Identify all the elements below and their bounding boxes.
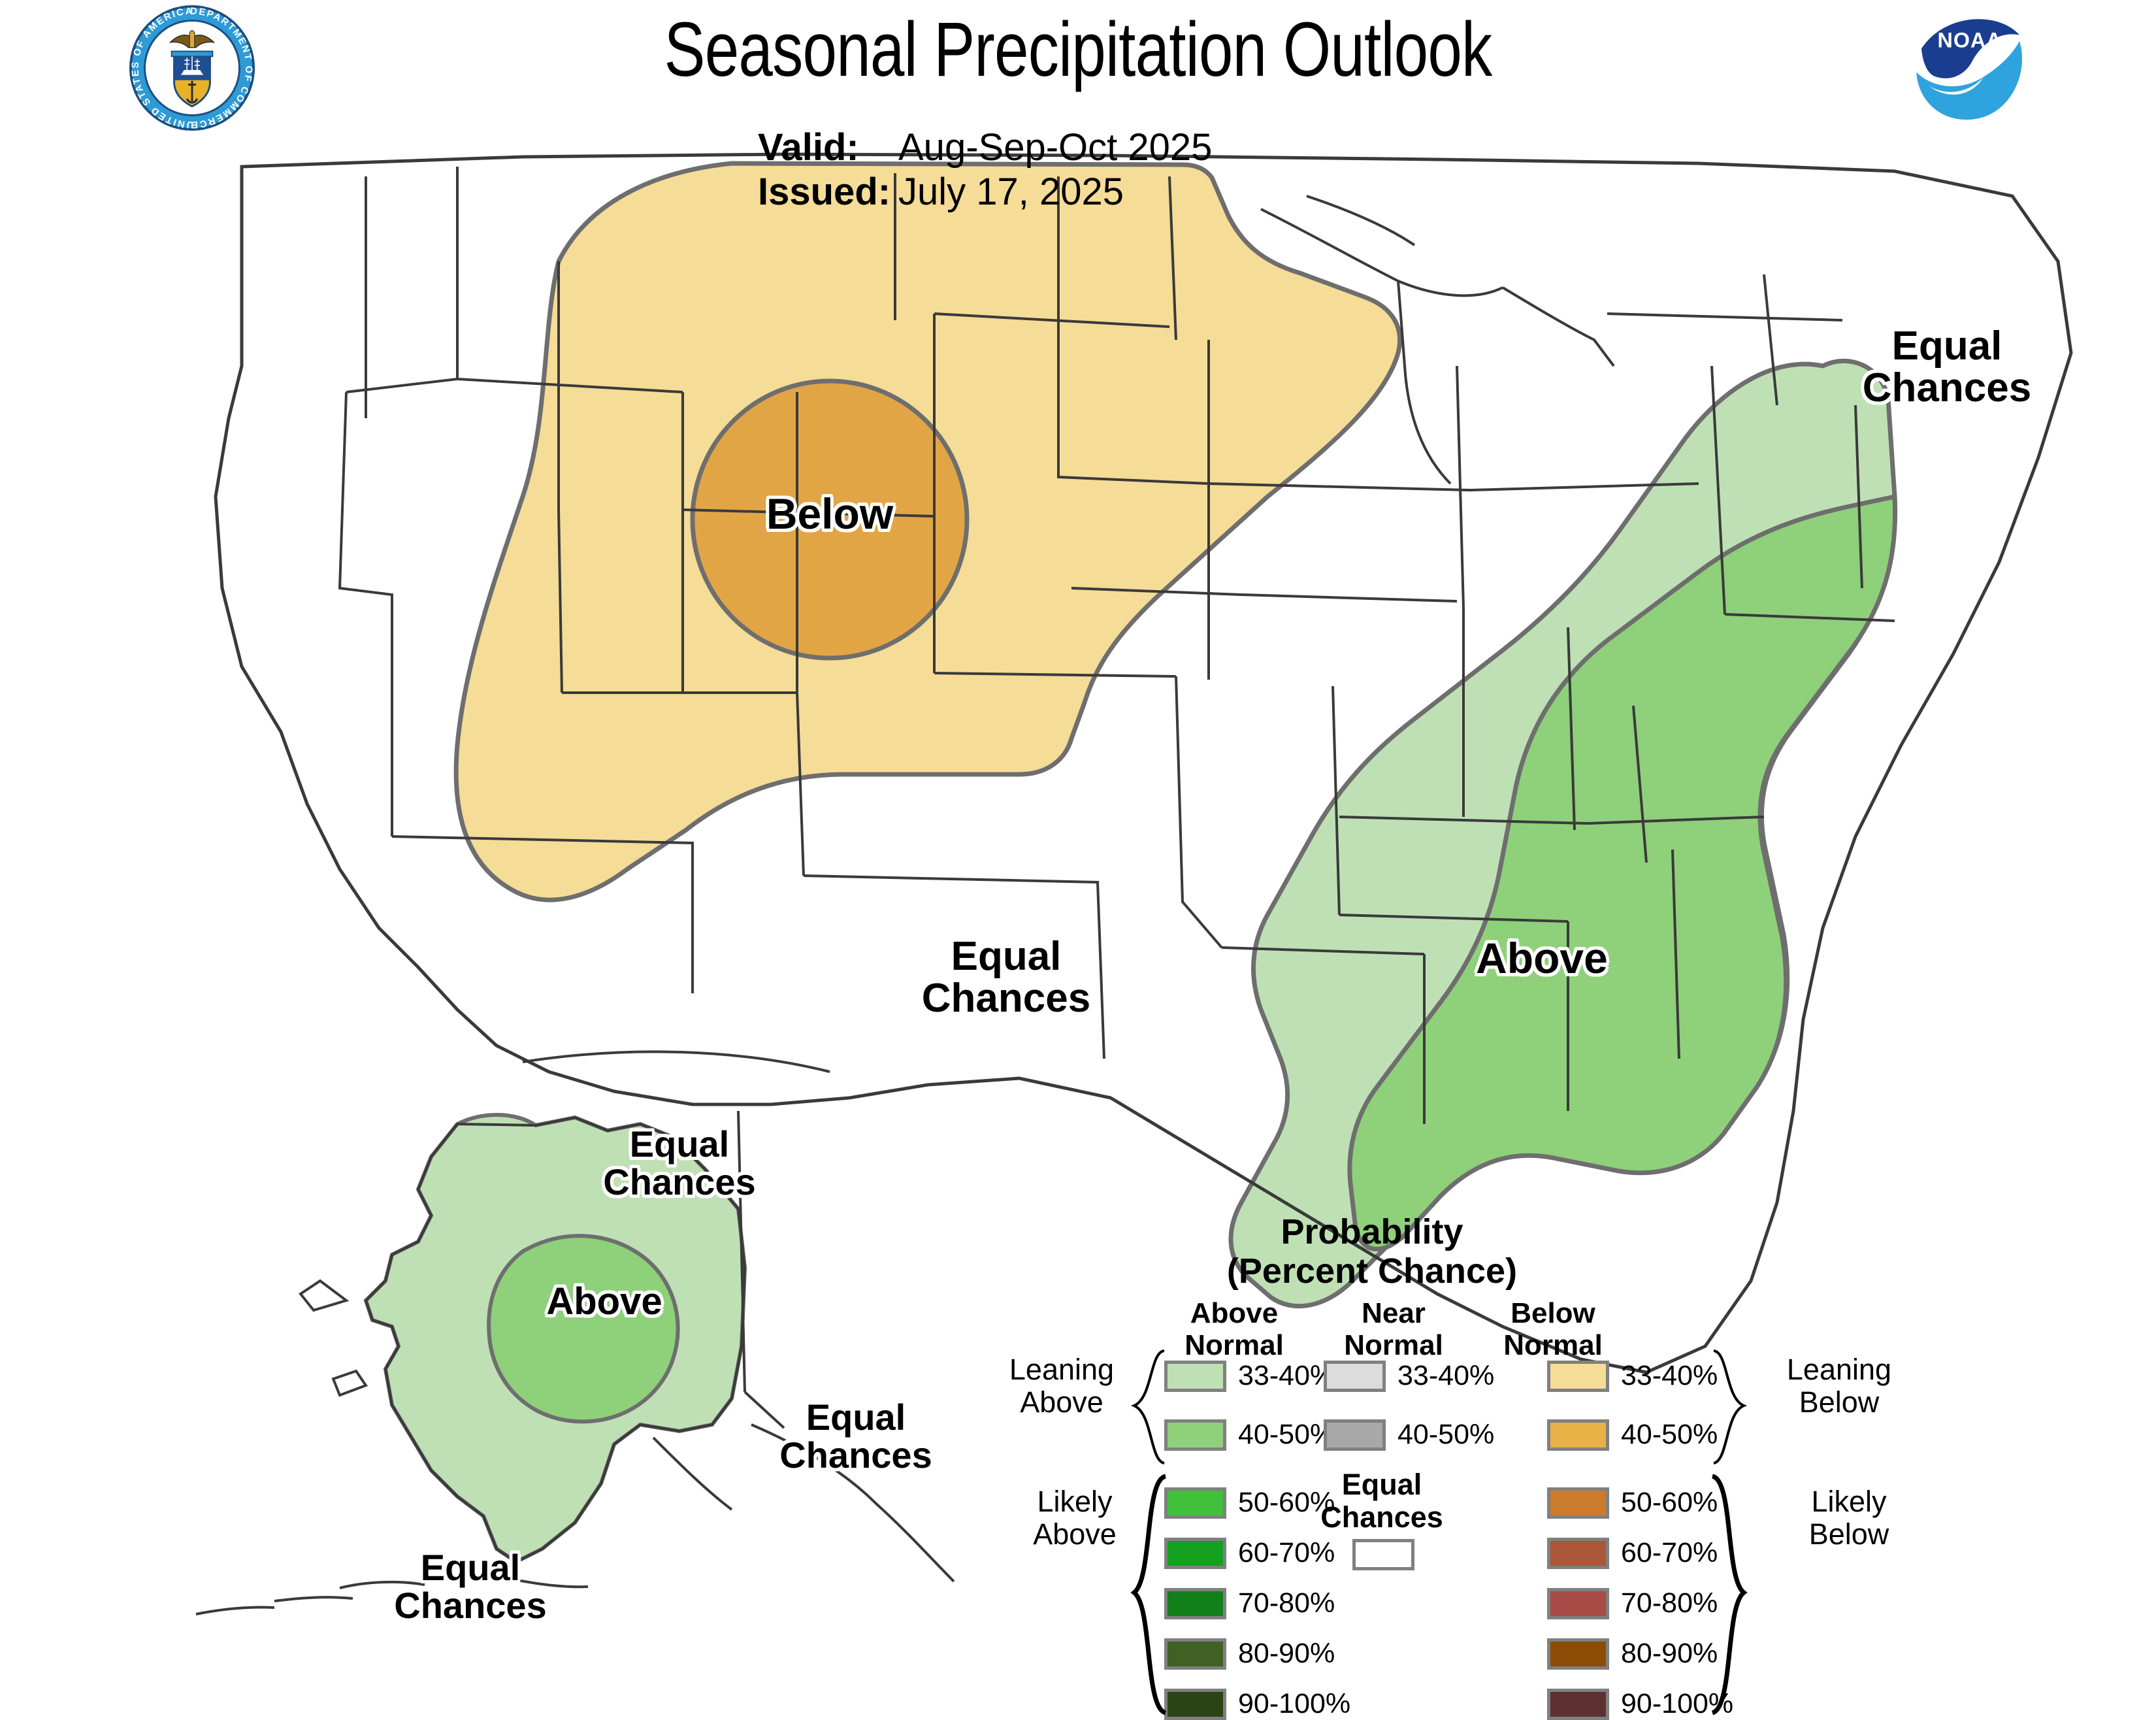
swatch-label: 33-40% [1621, 1360, 1718, 1392]
swatch-color [1547, 1361, 1609, 1392]
swatch-color [1164, 1487, 1226, 1519]
page-title: Seasonal Precipitation Outlook [216, 5, 1940, 94]
legend-swatch-above-90-100: 90-100% [1164, 1688, 1350, 1720]
swatch-color [1547, 1538, 1609, 1569]
swatch-color [1547, 1419, 1609, 1451]
legend-swatch-near-40-50: 40-50% [1324, 1419, 1494, 1451]
legend-swatch-above-33-40: 33-40% [1164, 1360, 1335, 1392]
legend-column-header-near-normal: Near Normal [1312, 1297, 1475, 1362]
legend-swatch-below-33-40: 33-40% [1547, 1360, 1718, 1392]
brace-likely-above [1130, 1474, 1169, 1715]
issued-line: Issued:July 17, 2025 [758, 170, 1212, 214]
legend-likely-below-label: Likely Below [1767, 1485, 1931, 1551]
legend-column-header-above-normal: Above Normal [1152, 1297, 1316, 1362]
legend-swatch-below-90-100: 90-100% [1547, 1688, 1733, 1720]
legend-leaning-above-label: Leaning Above [980, 1353, 1143, 1419]
swatch-label: 70-80% [1238, 1587, 1335, 1619]
brace-leaning-above [1130, 1348, 1169, 1466]
swatch-color [1164, 1638, 1226, 1670]
swatch-label: 33-40% [1238, 1360, 1335, 1392]
swatch-color [1324, 1419, 1386, 1451]
swatch-label: 60-70% [1238, 1537, 1335, 1569]
map-label-equal-chances-northeast: Equal Chances [1806, 325, 2087, 410]
issued-value: July 17, 2025 [898, 171, 1124, 213]
swatch-color [1324, 1361, 1386, 1392]
legend-equal-chances-label: Equal Chances [1300, 1468, 1463, 1534]
swatch-label: 50-60% [1621, 1487, 1718, 1519]
map-label-equal-chances-alaska-north: Equal Chances [572, 1125, 787, 1201]
map-label-equal-chances-central: Equal Chances [856, 936, 1156, 1020]
swatch-color [1164, 1538, 1226, 1569]
swatch-color [1547, 1689, 1609, 1720]
valid-value: Aug-Sep-Oct 2025 [898, 126, 1212, 169]
map-label-above-alaska: Above [497, 1282, 712, 1321]
legend-equal-chances-swatch [1352, 1539, 1414, 1570]
swatch-label: 80-90% [1238, 1638, 1335, 1670]
swatch-label: 70-80% [1621, 1587, 1718, 1619]
map-label-equal-chances-alaska-aleutians: Equal Chances [353, 1549, 588, 1625]
noaa-wordmark: NOAA [1938, 29, 2002, 52]
legend-swatch-near-33-40: 33-40% [1324, 1360, 1494, 1392]
map-label-below: Below [706, 491, 954, 537]
valid-issued-block: Valid:Aug-Sep-Oct 2025 Issued:July 17, 2… [758, 125, 1212, 215]
swatch-color [1164, 1361, 1226, 1392]
legend-title: Probability (Percent Chance) [1156, 1212, 1588, 1291]
valid-label: Valid: [758, 125, 898, 170]
map-label-above-southeast: Above [1405, 936, 1679, 981]
swatch-label: 60-70% [1621, 1537, 1718, 1569]
legend-swatch-above-70-80: 70-80% [1164, 1587, 1335, 1619]
legend: Probability (Percent Chance) Above Norma… [1000, 1212, 1914, 1663]
legend-swatch-above-80-90: 80-90% [1164, 1638, 1335, 1670]
swatch-color [1547, 1487, 1609, 1519]
swatch-color [1547, 1588, 1609, 1619]
swatch-label: 90-100% [1238, 1688, 1350, 1720]
swatch-label: 40-50% [1397, 1419, 1494, 1451]
legend-leaning-below-label: Leaning Below [1757, 1353, 1921, 1419]
brace-likely-below [1708, 1474, 1748, 1715]
swatch-label: 33-40% [1397, 1360, 1494, 1392]
issued-label: Issued: [758, 170, 898, 214]
map-label-equal-chances-alaska-southeast: Equal Chances [745, 1398, 967, 1474]
legend-swatch-above-40-50: 40-50% [1164, 1419, 1335, 1451]
swatch-color [1164, 1689, 1226, 1720]
legend-swatch-below-70-80: 70-80% [1547, 1587, 1718, 1619]
legend-swatch-below-60-70: 60-70% [1547, 1537, 1718, 1569]
swatch-label: 40-50% [1621, 1419, 1718, 1451]
brace-leaning-below [1708, 1348, 1748, 1466]
valid-line: Valid:Aug-Sep-Oct 2025 [758, 125, 1212, 170]
swatch-label: 80-90% [1621, 1638, 1718, 1670]
swatch-color [1164, 1588, 1226, 1619]
legend-swatch-below-50-60: 50-60% [1547, 1487, 1718, 1519]
swatch-label: 40-50% [1238, 1419, 1335, 1451]
legend-swatch-above-60-70: 60-70% [1164, 1537, 1335, 1569]
swatch-color [1547, 1638, 1609, 1670]
swatch-color [1164, 1419, 1226, 1451]
legend-swatch-below-40-50: 40-50% [1547, 1419, 1718, 1451]
legend-swatch-below-80-90: 80-90% [1547, 1638, 1718, 1670]
legend-column-header-below-normal: Below Normal [1471, 1297, 1635, 1362]
